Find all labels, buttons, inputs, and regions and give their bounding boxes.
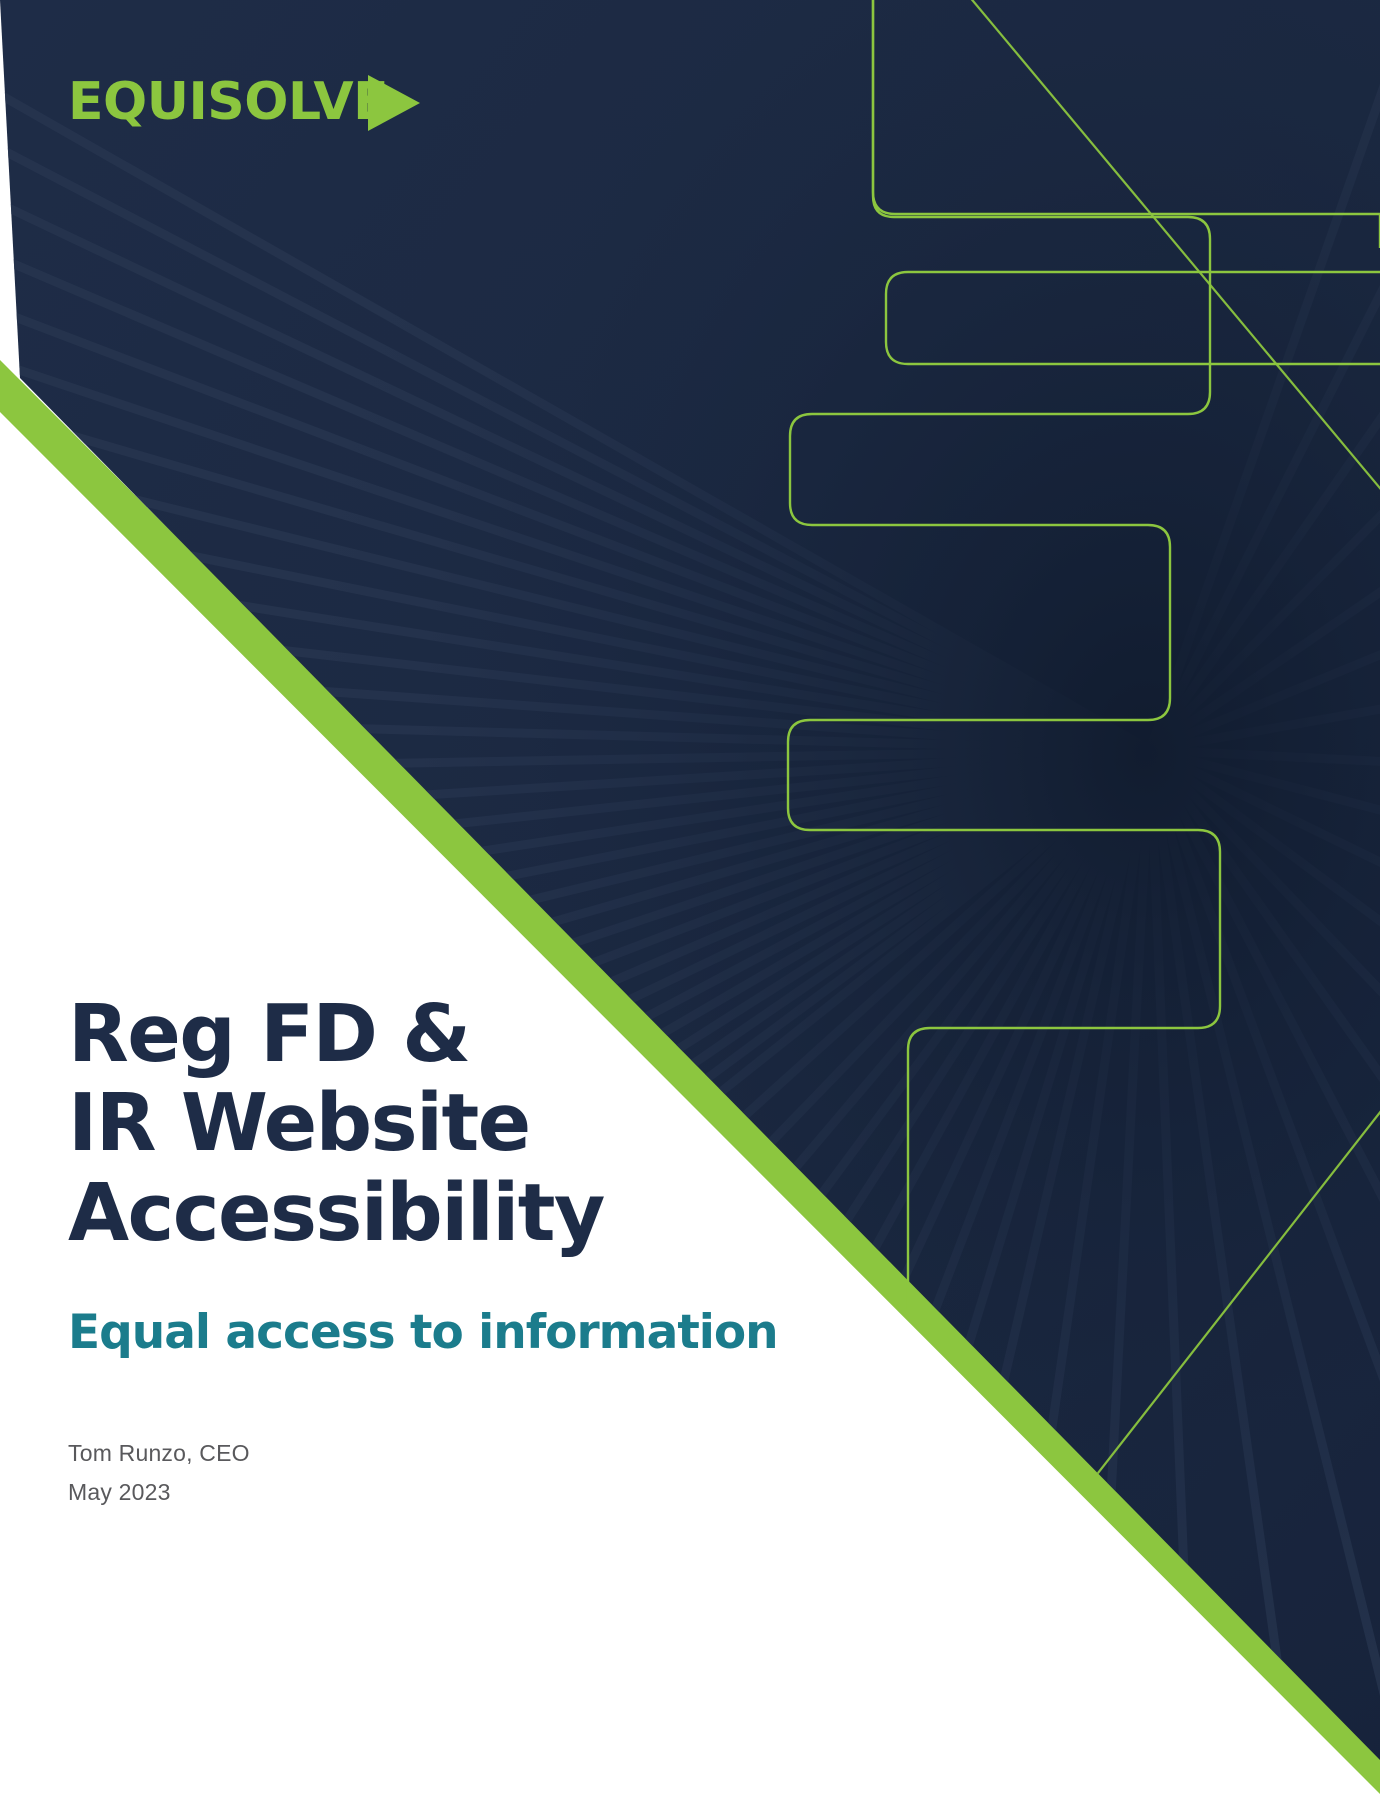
stripe-focal-glow: [0, 0, 1380, 1794]
cover-background-artwork: [0, 0, 1380, 1794]
equisolve-logo: EQUISOLVE: [68, 72, 420, 134]
green-accent-line-upper-right: [872, 0, 1380, 560]
green-zigzag-outline-seg4: [1098, 222, 1380, 244]
byline-author: Tom Runzo, CEO: [68, 1434, 968, 1474]
page-subtitle: Equal access to information: [68, 1306, 968, 1360]
cover-page: EQUISOLVE Reg FD & IR Website Accessibil…: [0, 0, 1380, 1794]
radiating-stripe-pattern: [0, 0, 1380, 1794]
green-zigzag-outline-seg3: [886, 272, 1380, 364]
byline: Tom Runzo, CEO May 2023: [68, 1434, 968, 1513]
green-zigzag-outline: [873, 0, 1380, 214]
green-accent-line-lower-right: [1030, 1010, 1380, 1560]
navy-field: [0, 0, 1380, 1794]
byline-date: May 2023: [68, 1473, 968, 1513]
page-background: [0, 0, 1380, 1794]
equisolve-logo-svg: EQUISOLVE: [68, 72, 420, 134]
cover-content: Reg FD & IR Website Accessibility Equal …: [68, 990, 968, 1513]
logo-wordmark-text: EQUISOLVE: [68, 72, 388, 132]
page-title: Reg FD & IR Website Accessibility: [68, 990, 968, 1258]
